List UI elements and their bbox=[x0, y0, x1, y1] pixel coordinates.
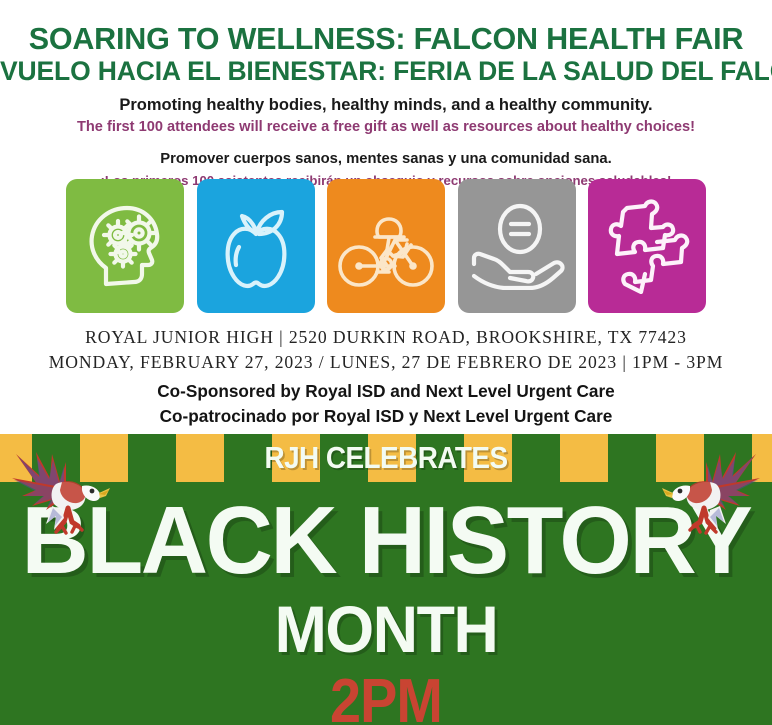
venue-address-line: ROYAL JUNIOR HIGH | 2520 DURKIN ROAD, BR… bbox=[0, 325, 772, 350]
sponsor-line-spanish: Co-patrocinado por Royal ISD y Next Leve… bbox=[0, 404, 772, 429]
wellness-icon-row bbox=[66, 179, 706, 313]
cyclist-icon bbox=[337, 200, 435, 292]
venue-details: ROYAL JUNIOR HIGH | 2520 DURKIN ROAD, BR… bbox=[0, 325, 772, 375]
falcon-mascot-icon-left bbox=[6, 436, 118, 548]
hand-coin-icon bbox=[468, 202, 566, 290]
banner-main-heading: BLACK HISTORY bbox=[12, 492, 761, 590]
falcon-mascot-icon-right bbox=[654, 436, 766, 548]
icon-card-physical-activity bbox=[327, 179, 445, 313]
health-fair-flyer: SOARING TO WELLNESS: FALCON HEALTH FAIR … bbox=[0, 0, 772, 725]
flyer-title-english: SOARING TO WELLNESS: FALCON HEALTH FAIR bbox=[0, 23, 772, 56]
flyer-title-spanish: VUELO HACIA EL BIENESTAR: FERIA DE LA SA… bbox=[0, 57, 772, 86]
banner-kicker-text: RJH CELEBRATES bbox=[39, 436, 734, 480]
banner-sub-heading: MONTH bbox=[19, 590, 752, 668]
sponsor-details: Co-Sponsored by Royal ISD and Next Level… bbox=[0, 379, 772, 430]
head-gears-icon bbox=[82, 200, 168, 292]
tagline-spanish: Promover cuerpos sanos, mentes sanas y u… bbox=[0, 150, 772, 168]
icon-card-community bbox=[588, 179, 706, 313]
event-date-time-line: MONDAY, FEBRUARY 27, 2023 / LUNES, 27 DE… bbox=[0, 350, 772, 375]
icon-card-healthy-minds bbox=[66, 179, 184, 313]
sponsor-line-english: Co-Sponsored by Royal ISD and Next Level… bbox=[0, 379, 772, 404]
promo-english: The first 100 attendees will receive a f… bbox=[0, 118, 772, 136]
black-history-month-banner: RJH CELEBRATES BLACK HISTORY MONTH 2PM bbox=[0, 434, 772, 725]
puzzle-pieces-icon bbox=[601, 198, 693, 294]
icon-card-access-support bbox=[458, 179, 576, 313]
banner-time-text: 2PM bbox=[39, 666, 734, 725]
tagline-english: Promoting healthy bodies, healthy minds,… bbox=[0, 95, 772, 116]
apple-icon bbox=[212, 199, 300, 293]
icon-card-healthy-eating bbox=[197, 179, 315, 313]
